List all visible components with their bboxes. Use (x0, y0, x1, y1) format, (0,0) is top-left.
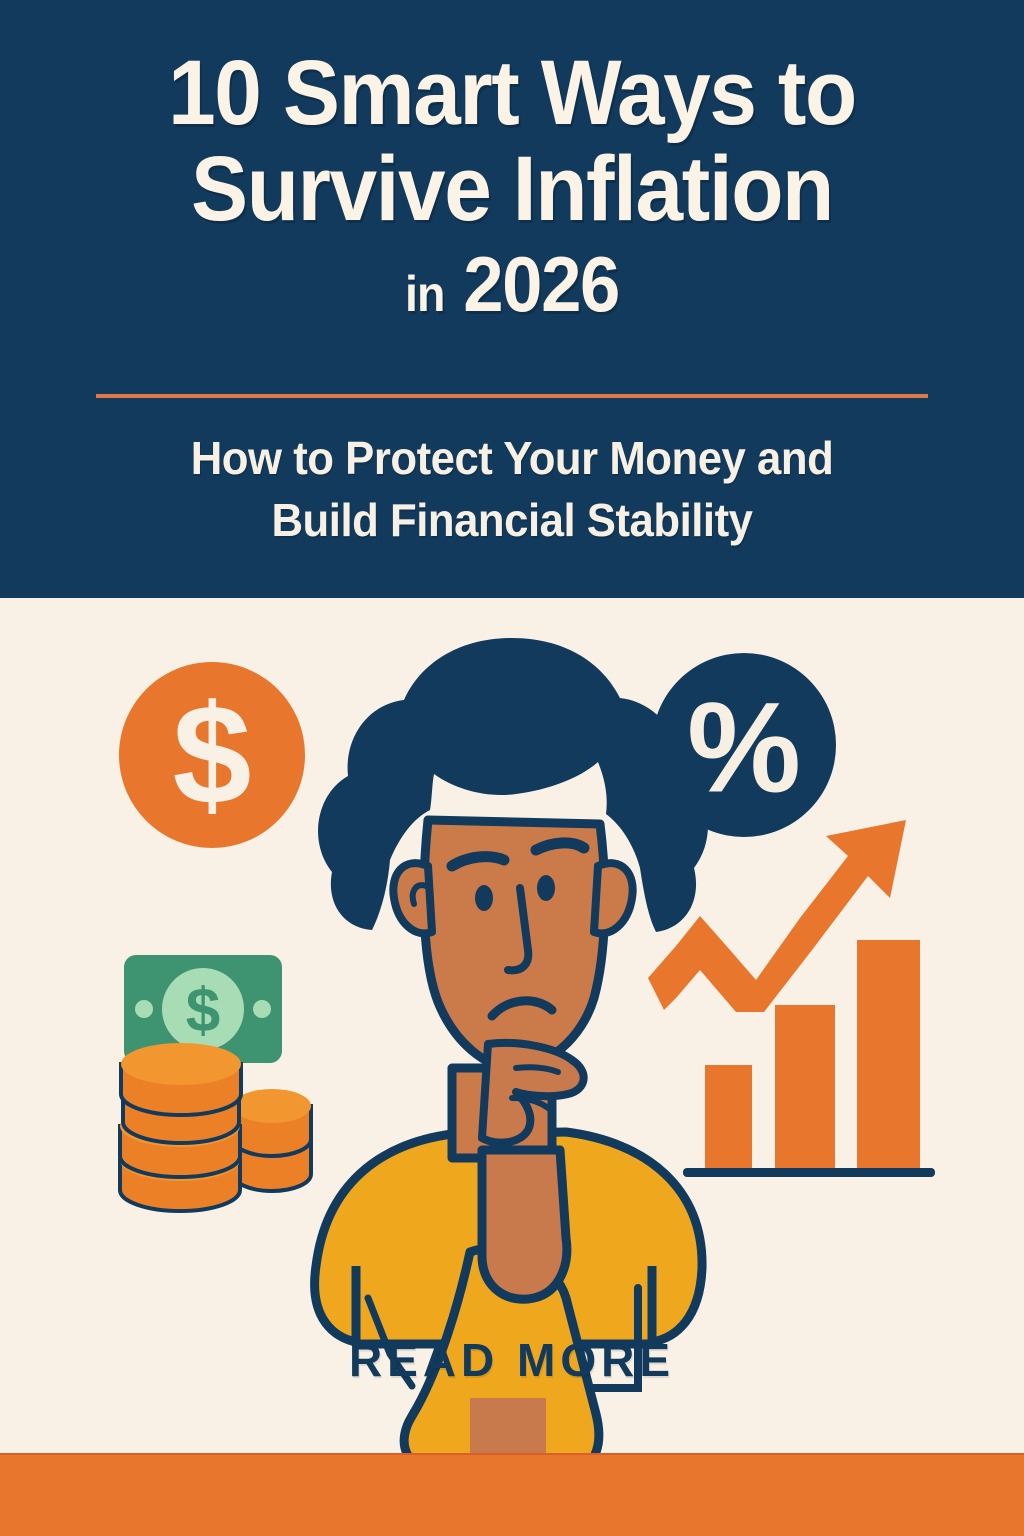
chart-baseline (683, 1168, 935, 1177)
header-divider-rule (96, 394, 928, 398)
person-ear-right (594, 863, 633, 933)
person-illustration (306, 638, 708, 1453)
chart-bar-3 (857, 940, 920, 1170)
chart-bar-1 (705, 1065, 752, 1170)
poster-canvas: 10 Smart Ways to Survive Inflation in 20… (0, 0, 1024, 1536)
coin-right-upper-top (233, 1089, 311, 1123)
dollar-sign-glyph: $ (173, 676, 252, 835)
subtitle-line-1: How to Protect Your Money and (26, 428, 999, 490)
banknote-dot-right (253, 1000, 271, 1018)
person-hand (482, 1043, 584, 1143)
title-block: 10 Smart Ways to Survive Inflation in 20… (0, 48, 1024, 323)
banknote-dot-left (135, 1000, 153, 1018)
banknote-dollar-glyph: $ (186, 977, 220, 1046)
coin-stack-level-1-top (121, 1043, 241, 1085)
subtitle-block: How to Protect Your Money and Build Fina… (0, 428, 1024, 551)
title-line-3: in 2026 (36, 246, 988, 322)
title-line-2: Survive Inflation (36, 144, 988, 234)
person-face (424, 820, 605, 1068)
read-more-button[interactable]: READ MORE (0, 1333, 1024, 1387)
title-line-1: 10 Smart Ways to (36, 48, 988, 138)
person-wrist-skin (470, 1398, 546, 1453)
coin-stack-icon (120, 1043, 311, 1211)
title-year-prefix: in (405, 266, 444, 322)
title-year: 2026 (463, 240, 619, 328)
header-band: 10 Smart Ways to Survive Inflation in 20… (0, 0, 1024, 598)
percent-sign-glyph: % (687, 677, 801, 820)
person-eye-left (475, 885, 493, 911)
footer-band (0, 1453, 1024, 1536)
chart-bar-2 (775, 1005, 835, 1170)
illustration-svg: $ % $ (0, 598, 1024, 1453)
illustration-area: $ % $ (0, 598, 1024, 1453)
person-raised-forearm (482, 1150, 567, 1299)
subtitle-line-2: Build Financial Stability (26, 490, 999, 552)
dollar-badge-icon: $ (119, 662, 305, 848)
person-eye-right (537, 875, 555, 901)
